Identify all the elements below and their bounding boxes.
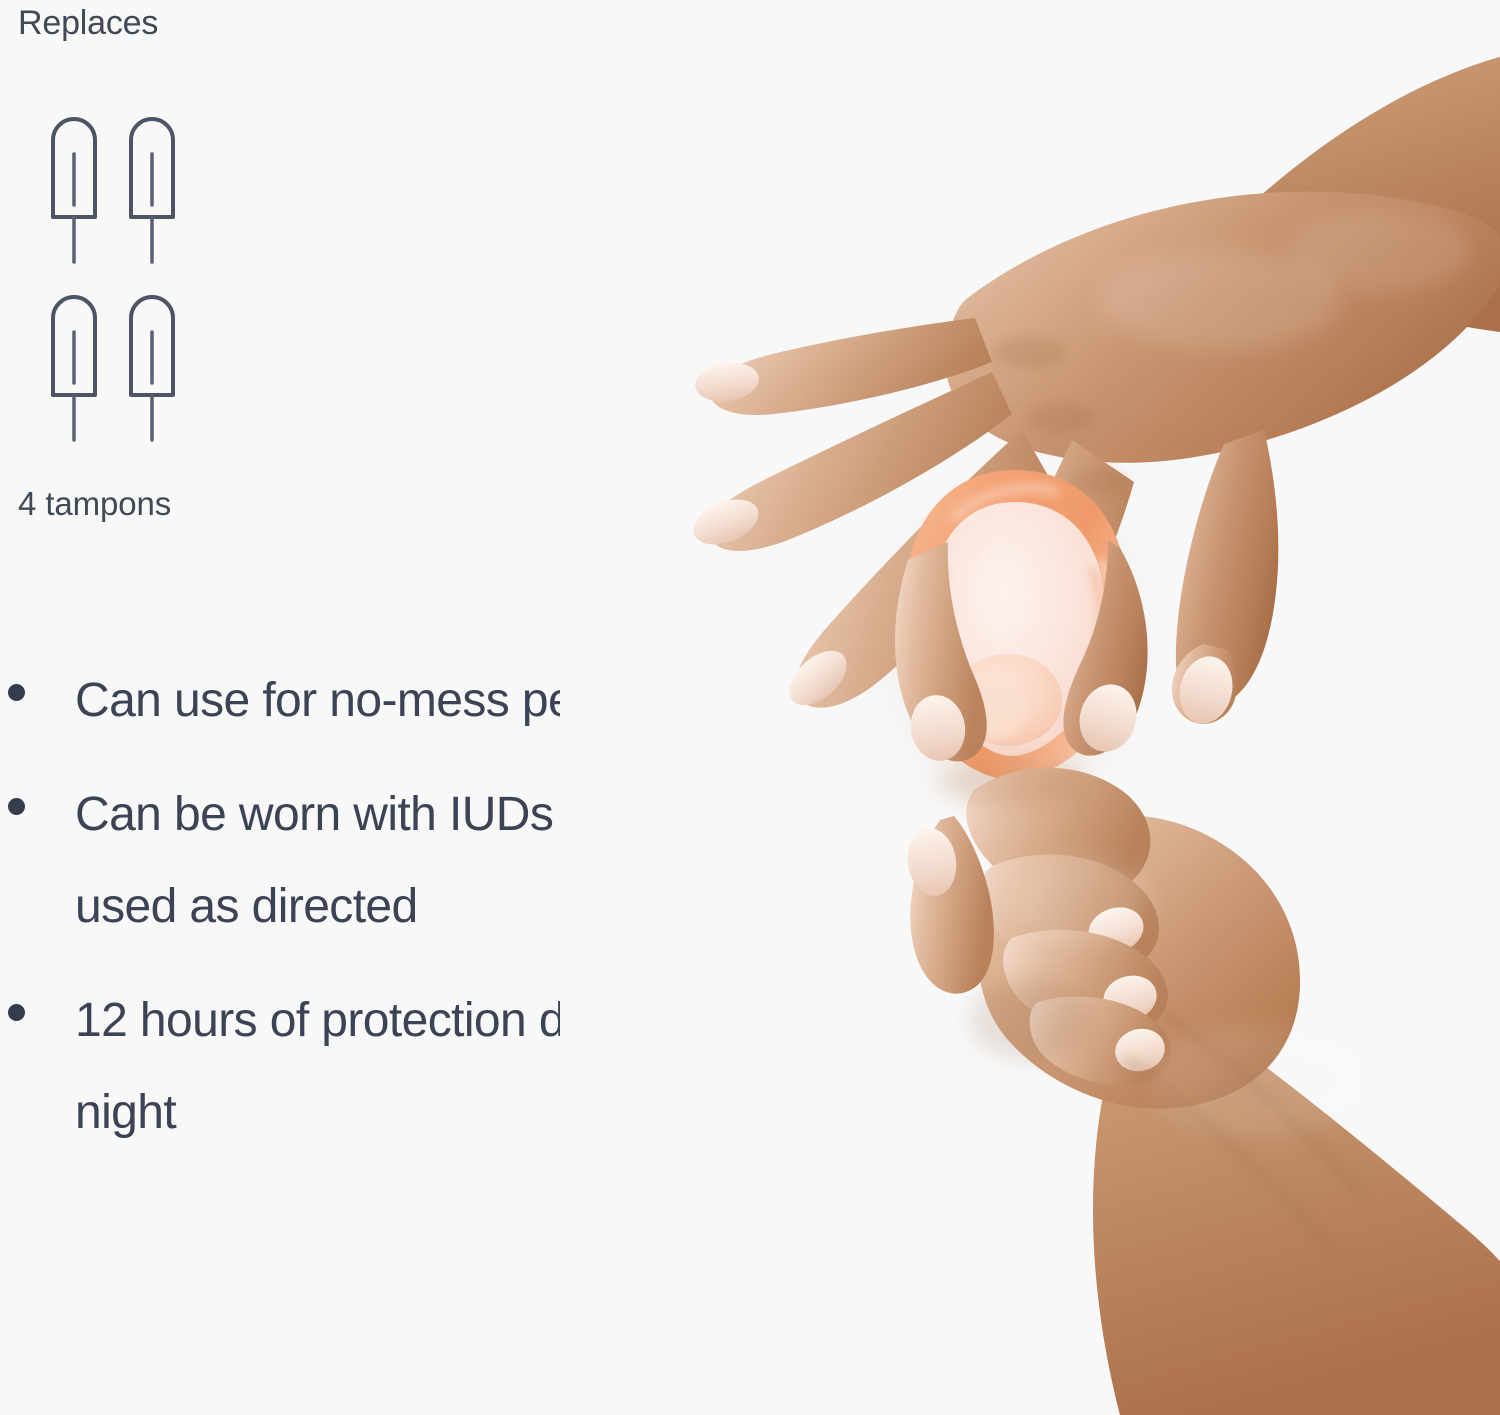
- tampon-count-caption: 4 tampons: [18, 487, 171, 520]
- tampon-icon: [48, 290, 110, 442]
- product-feature-image: Replaces: [0, 0, 1500, 1415]
- bullet-icon: [8, 1004, 25, 1021]
- bullet-icon: [8, 684, 25, 701]
- tampon-icon-grid: [48, 112, 208, 442]
- tampon-icon: [48, 112, 110, 264]
- replaces-heading: Replaces: [18, 6, 158, 40]
- tampon-icon: [126, 290, 188, 442]
- product-photo: [560, 0, 1500, 1415]
- tampon-icon: [126, 112, 188, 264]
- bullet-icon: [8, 798, 25, 815]
